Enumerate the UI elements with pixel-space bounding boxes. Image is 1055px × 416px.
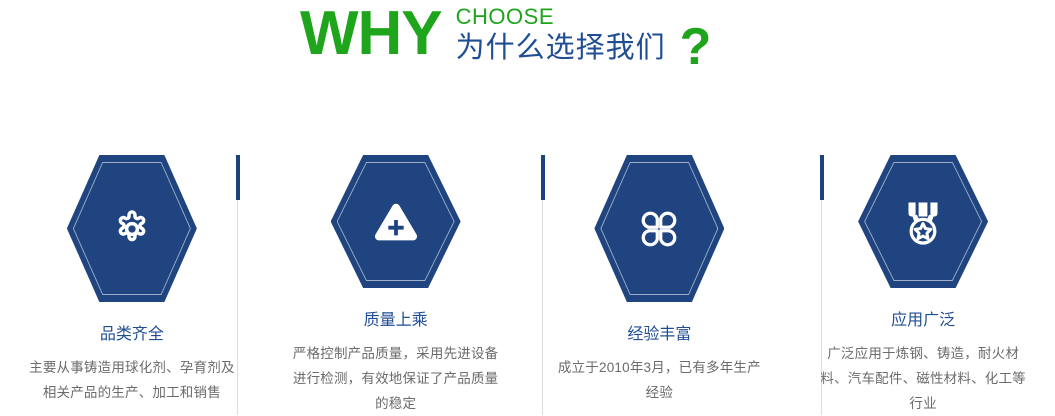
card-title: 应用广泛 <box>891 310 955 332</box>
gear-icon <box>67 155 197 302</box>
hexagon-badge <box>331 155 461 288</box>
header-chinese-headline: 为什么选择我们 <box>456 31 666 65</box>
card-title: 经验丰富 <box>627 324 691 346</box>
triangle-plus-icon <box>331 155 461 288</box>
card-description: 广泛应用于炼钢、铸造，耐火材料、汽车配件、磁性材料、化工等行业 <box>818 341 1028 416</box>
header-text-stack: CHOOSE 为什么选择我们 <box>456 4 666 65</box>
hexagon-badge <box>594 155 724 302</box>
header-choose-word: CHOOSE <box>456 4 666 29</box>
feature-card-2[interactable]: 质量上乘 严格控制产品质量，采用先进设备进行检测，有效地保证了产品质量的稳定 <box>264 140 528 416</box>
medal-star-icon <box>858 155 988 288</box>
header-title-group: WHY CHOOSE 为什么选择我们 ? <box>300 2 711 75</box>
feature-card-4[interactable]: 应用广泛 广泛应用于炼钢、铸造，耐火材料、汽车配件、磁性材料、化工等行业 <box>791 140 1055 416</box>
card-description: 成立于2010年3月，已有多年生产经验 <box>554 355 764 405</box>
feature-cards-row: 品类齐全 主要从事铸造用球化剂、孕育剂及相关产品的生产、加工和销售 质量上乘 严… <box>0 140 1055 416</box>
card-title: 质量上乘 <box>364 310 428 332</box>
card-description: 严格控制产品质量，采用先进设备进行检测，有效地保证了产品质量的稳定 <box>291 341 501 416</box>
four-petal-clover-icon <box>594 155 724 302</box>
section-header: WHY CHOOSE 为什么选择我们 ? <box>0 0 1055 100</box>
hexagon-badge <box>858 155 988 288</box>
header-question-mark: ? <box>680 19 712 75</box>
header-why-word: WHY <box>300 2 442 66</box>
card-description: 主要从事铸造用球化剂、孕育剂及相关产品的生产、加工和销售 <box>27 355 237 405</box>
hexagon-badge <box>67 155 197 302</box>
card-title: 品类齐全 <box>100 324 164 346</box>
feature-card-1[interactable]: 品类齐全 主要从事铸造用球化剂、孕育剂及相关产品的生产、加工和销售 <box>0 140 264 416</box>
feature-card-3[interactable]: 经验丰富 成立于2010年3月，已有多年生产经验 <box>528 140 792 416</box>
